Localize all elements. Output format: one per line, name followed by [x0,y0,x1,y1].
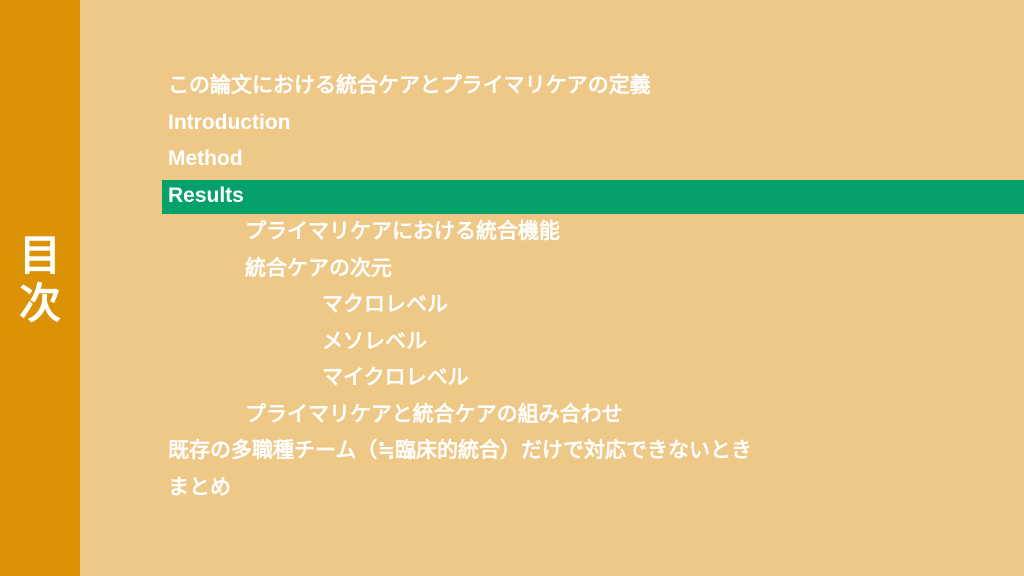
slide-canvas: 目 次 この論文における統合ケアとプライマリケアの定義IntroductionM… [0,0,1024,576]
toc-item[interactable]: 既存の多職種チーム（≒臨床的統合）だけで対応できないとき [0,433,1024,470]
toc-current-highlight-bar [162,180,1024,214]
toc-item[interactable]: マクロレベル [0,287,1024,324]
toc-item-label: まとめ [168,470,231,507]
toc-item-label: 既存の多職種チーム（≒臨床的統合）だけで対応できないとき [168,433,752,470]
toc-item-label: この論文における統合ケアとプライマリケアの定義 [168,68,651,105]
toc-item[interactable]: まとめ [0,470,1024,507]
toc-item-label: Results [168,178,244,215]
table-of-contents: この論文における統合ケアとプライマリケアの定義IntroductionMetho… [0,68,1024,506]
toc-item[interactable]: Introduction [0,105,1024,142]
toc-item[interactable]: メソレベル [0,324,1024,361]
toc-item-label: 統合ケアの次元 [245,251,392,288]
toc-item-label: メソレベル [322,324,427,361]
toc-item[interactable]: Results [0,178,1024,215]
toc-item[interactable]: Method [0,141,1024,178]
toc-item[interactable]: プライマリケアにおける統合機能 [0,214,1024,251]
toc-item[interactable]: この論文における統合ケアとプライマリケアの定義 [0,68,1024,105]
toc-item-label: Introduction [168,105,290,142]
toc-item-label: プライマリケアと統合ケアの組み合わせ [245,397,623,434]
toc-item-label: マクロレベル [322,287,448,324]
toc-item[interactable]: マイクロレベル [0,360,1024,397]
toc-item[interactable]: プライマリケアと統合ケアの組み合わせ [0,397,1024,434]
toc-item-label: Method [168,141,243,178]
toc-item-label: マイクロレベル [322,360,469,397]
toc-item-label: プライマリケアにおける統合機能 [245,214,560,251]
toc-item[interactable]: 統合ケアの次元 [0,251,1024,288]
